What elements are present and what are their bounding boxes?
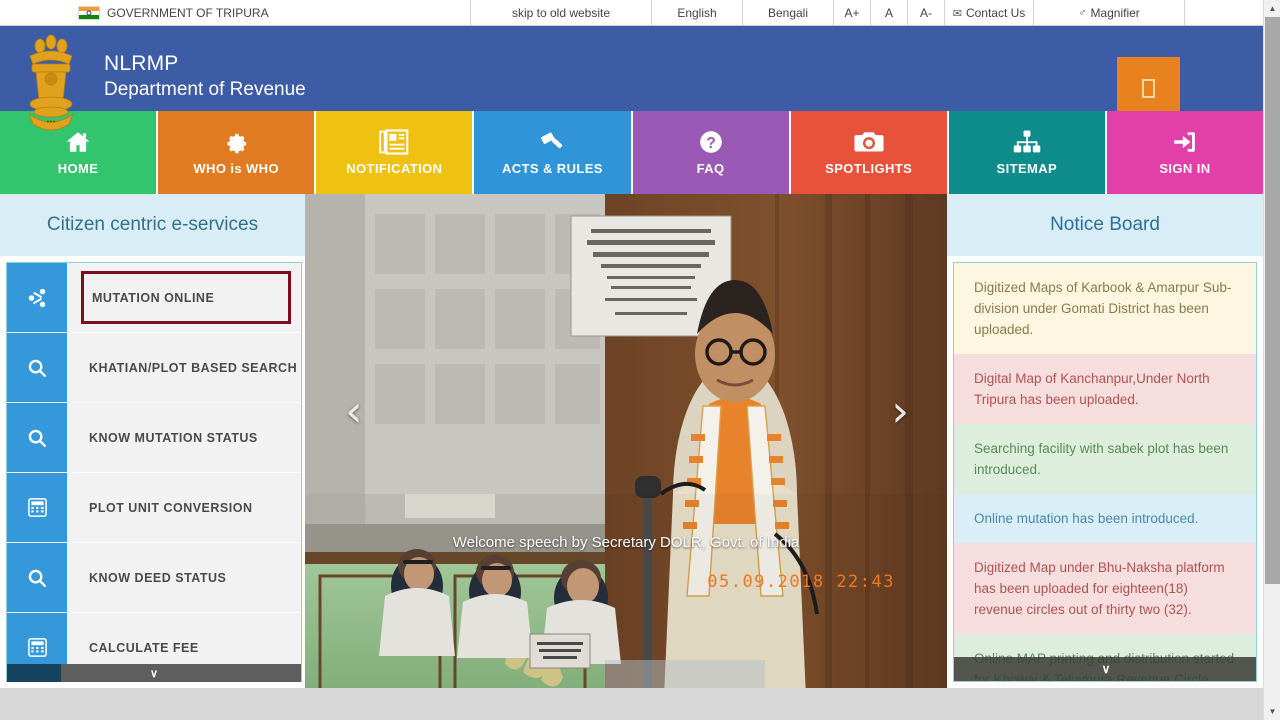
services-list: MUTATION ONLINE KHATIAN/PLOT BASED SEARC… bbox=[6, 262, 302, 682]
news-icon bbox=[379, 129, 409, 155]
svg-text:●●●: ●●● bbox=[46, 119, 55, 125]
nav-item-sitemap[interactable]: SITEMAP bbox=[949, 111, 1105, 194]
magnifier-icon: ♂ bbox=[1078, 7, 1086, 19]
nav-label: SIGN IN bbox=[1159, 161, 1210, 176]
nav-item-faq[interactable]: ? FAQ bbox=[633, 111, 789, 194]
search-icon bbox=[7, 543, 67, 612]
skip-to-old-website-link[interactable]: skip to old website bbox=[471, 0, 651, 26]
carousel-next-button[interactable]: › bbox=[891, 390, 909, 434]
india-flag-icon bbox=[78, 6, 100, 20]
sitemap-icon bbox=[1012, 129, 1042, 155]
service-label: KHATIAN/PLOT BASED SEARCH bbox=[67, 333, 301, 402]
divider bbox=[1184, 0, 1185, 26]
contact-us-label: Contact Us bbox=[966, 6, 1025, 20]
carousel-photo bbox=[305, 194, 947, 720]
notice-item[interactable]: Digital Map of Kanchanpur,Under North Tr… bbox=[954, 354, 1256, 424]
citizen-services-column: Citizen centric e-services MUTATION ONLI… bbox=[0, 194, 305, 720]
services-scroll-down-button[interactable]: ∨ bbox=[7, 664, 301, 682]
service-label: PLOT UNIT CONVERSION bbox=[67, 473, 301, 542]
notice-item[interactable]: Digitized Map under Bhu-Naksha platform … bbox=[954, 543, 1256, 634]
services-panel-title: Citizen centric e-services bbox=[0, 194, 305, 256]
nav-label: WHO is WHO bbox=[193, 161, 279, 176]
scroll-down-arrow-icon[interactable]: ▼ bbox=[1264, 703, 1280, 720]
missing-glyph-icon bbox=[1142, 79, 1155, 98]
page-root: GOVERNMENT OF TRIPURA skip to old websit… bbox=[0, 0, 1280, 720]
envelope-icon: ✉ bbox=[953, 7, 962, 20]
scroll-up-arrow-icon[interactable]: ▲ bbox=[1264, 0, 1280, 17]
browser-vertical-scrollbar[interactable]: ▲ ▼ bbox=[1263, 0, 1280, 720]
scroll-stub bbox=[7, 664, 61, 682]
nav-item-spotlights[interactable]: SPOTLIGHTS bbox=[791, 111, 947, 194]
nav-label: ACTS & RULES bbox=[502, 161, 603, 176]
notice-item[interactable]: Digitized Maps of Karbook & Amarpur Sub-… bbox=[954, 263, 1256, 354]
magnifier-label: Magnifier bbox=[1090, 6, 1139, 20]
service-item-plot-unit-conversion[interactable]: PLOT UNIT CONVERSION bbox=[7, 473, 301, 542]
service-item-khatian-plot-based-search[interactable]: KHATIAN/PLOT BASED SEARCH bbox=[7, 333, 301, 402]
notice-list: Digitized Maps of Karbook & Amarpur Sub-… bbox=[953, 262, 1257, 682]
font-increase-button[interactable]: A+ bbox=[834, 0, 870, 26]
nav-item-sign-in[interactable]: SIGN IN bbox=[1107, 111, 1263, 194]
services-scroll-label: ∨ bbox=[150, 667, 158, 680]
government-label-text: GOVERNMENT OF TRIPURA bbox=[107, 6, 269, 20]
question-icon: ? bbox=[697, 129, 725, 155]
main-navigation: HOME WHO is WHO NOTIFICATION bbox=[0, 111, 1263, 194]
site-subtitle: Department of Revenue bbox=[104, 77, 306, 103]
calculator-icon bbox=[7, 473, 67, 542]
national-emblem-icon: ●●● bbox=[16, 22, 86, 140]
carousel-caption: Welcome speech by Secretary DOLR, Govt. … bbox=[305, 534, 947, 551]
font-normal-button[interactable]: A bbox=[871, 0, 907, 26]
notice-item[interactable]: Searching facility with sabek plot has b… bbox=[954, 424, 1256, 494]
nav-label: NOTIFICATION bbox=[346, 161, 442, 176]
nav-item-notification[interactable]: NOTIFICATION bbox=[316, 111, 472, 194]
carousel-prev-button[interactable]: ‹ bbox=[345, 390, 363, 434]
nav-label: HOME bbox=[58, 161, 99, 176]
search-icon bbox=[7, 333, 67, 402]
notice-scroll-down-button[interactable]: ∨ bbox=[954, 657, 1257, 681]
nav-label: FAQ bbox=[697, 161, 725, 176]
page-bottom-strip bbox=[0, 688, 1263, 720]
service-item-know-mutation-status[interactable]: KNOW MUTATION STATUS bbox=[7, 403, 301, 472]
site-title-block: NLRMP Department of Revenue bbox=[104, 51, 306, 103]
svg-text:?: ? bbox=[706, 135, 716, 152]
nav-item-who-is-who[interactable]: WHO is WHO bbox=[158, 111, 314, 194]
nav-item-acts-and-rules[interactable]: ACTS & RULES bbox=[474, 111, 630, 194]
language-bengali-link[interactable]: Bengali bbox=[743, 0, 833, 26]
nav-label: SPOTLIGHTS bbox=[825, 161, 912, 176]
site-title: NLRMP bbox=[104, 51, 306, 77]
nav-label: SITEMAP bbox=[997, 161, 1058, 176]
contact-us-link[interactable]: ✉ Contact Us bbox=[945, 0, 1033, 26]
image-carousel[interactable]: ‹ › Welcome speech by Secretary DOLR, Go… bbox=[305, 194, 947, 720]
magnifier-link[interactable]: ♂ Magnifier bbox=[1034, 0, 1184, 26]
font-decrease-button[interactable]: A- bbox=[908, 0, 944, 26]
notice-item[interactable]: Online mutation has been introduced. bbox=[954, 494, 1256, 543]
service-item-know-deed-status[interactable]: KNOW DEED STATUS bbox=[7, 543, 301, 612]
notice-board-title: Notice Board bbox=[947, 194, 1263, 256]
gavel-icon bbox=[537, 129, 567, 155]
service-item-mutation-online[interactable]: MUTATION ONLINE bbox=[7, 263, 301, 332]
gear-icon bbox=[222, 129, 250, 155]
scrollbar-thumb[interactable] bbox=[1265, 17, 1280, 584]
service-label: KNOW MUTATION STATUS bbox=[67, 403, 301, 472]
site-masthead: ●●● NLRMP Department of Revenue bbox=[0, 26, 1263, 111]
notice-board-column: Notice Board Digitized Maps of Karbook &… bbox=[947, 194, 1263, 720]
language-english-link[interactable]: English bbox=[652, 0, 742, 26]
share-icon bbox=[7, 263, 67, 332]
browser-viewport: GOVERNMENT OF TRIPURA skip to old websit… bbox=[0, 0, 1263, 720]
top-utility-bar: GOVERNMENT OF TRIPURA skip to old websit… bbox=[0, 0, 1263, 26]
service-label: KNOW DEED STATUS bbox=[67, 543, 301, 612]
service-label: MUTATION ONLINE bbox=[81, 271, 291, 324]
photo-timestamp: 05.09.2018 22:43 bbox=[707, 572, 895, 592]
signin-icon bbox=[1170, 129, 1200, 155]
content-row: Citizen centric e-services MUTATION ONLI… bbox=[0, 194, 1263, 720]
camera-icon bbox=[854, 129, 884, 155]
search-icon bbox=[7, 403, 67, 472]
